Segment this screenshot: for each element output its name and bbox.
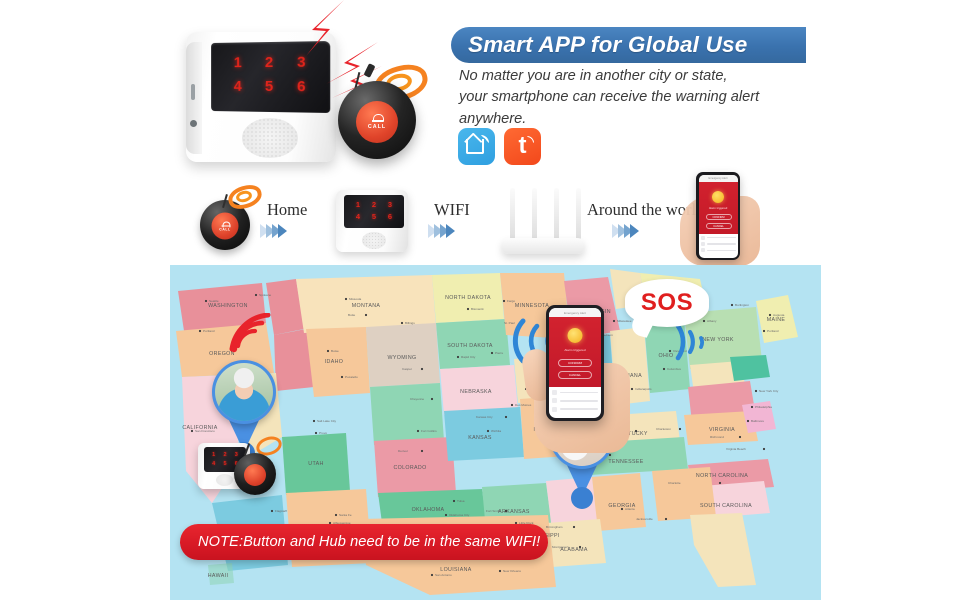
city-label: Billings [405,321,415,325]
app-list [699,234,738,257]
sos-button-face[interactable] [244,464,266,486]
city-label: Birmingham [546,525,563,529]
city-label: Casper [402,367,412,371]
hub-key-1[interactable]: 1 [212,452,215,458]
app-alert-text: Alarm triggered [699,207,738,210]
phone-screen: Emergency Alert Alarm triggered CONFIRM … [699,175,738,258]
state-label: UTAH [308,461,323,467]
app-alert-panel: Alarm triggered CONFIRM CANCEL [699,182,738,234]
app-status-bar: Emergency Alert [699,175,738,182]
state-label: HAWAII [208,573,229,579]
tuya-app-icon[interactable]: t [504,128,541,165]
app-status-title: Emergency Alert [708,177,727,180]
hub-key-6[interactable]: 6 [297,78,306,95]
note-text: NOTE:Button and Hub need to be in the sa… [198,534,540,550]
list-text [560,400,599,402]
list-icon [701,242,705,246]
note-banner: NOTE:Button and Hub need to be in the sa… [180,524,548,560]
avatar [212,360,276,424]
city-label: Richmond [710,435,724,439]
list-item[interactable] [701,236,736,240]
flow-router-device [488,182,598,254]
list-icon [701,248,705,252]
app-alert-panel: Alarm triggered CONFIRM CANCEL [549,317,601,387]
hub-key-4[interactable]: 4 [212,461,215,467]
infographic-canvas: Smart APP for Global Use No matter you a… [0,0,960,600]
city-label: Wichita [491,429,501,433]
city-label: Charlotte [668,481,681,485]
list-item[interactable] [701,242,736,246]
hub-key-1[interactable]: 1 [356,200,360,209]
app-confirm-label: CONFIRM [707,215,731,220]
city-label: Oklahoma City [449,513,470,517]
city-label: Portland [203,329,215,333]
sos-button-face[interactable]: CALL [212,213,239,240]
tuya-letter: t [504,128,541,165]
description-line-2: your smartphone can receive the warning … [459,87,789,108]
app-cancel-button[interactable]: CANCEL [706,223,732,229]
wifi-icon [481,135,489,143]
sos-button-large[interactable]: CALL [338,81,416,159]
smartphone-device: Emergency Alert Alarm triggered CONFIRM … [696,172,740,260]
router-antenna-icon [576,188,581,240]
city-label: Philadelphia [755,405,772,409]
state-label: SOUTH DAKOTA [447,343,493,349]
state-label: IDAHO [325,359,344,365]
state-label: NORTH DAKOTA [445,295,491,301]
flow-hub-device: 1 2 3 4 5 6 [336,190,408,252]
router-antenna-icon [510,188,515,240]
city-label: New Orleans [503,569,521,573]
city-label: Burlington [735,303,749,307]
hub-key-5[interactable]: 5 [265,78,273,95]
app-confirm-label: CONFIRM [559,360,591,367]
city-label: Seattle [209,299,219,303]
list-icon [701,236,705,240]
flow-arrows-wifi [428,224,452,238]
hub-key-2[interactable]: 2 [265,54,273,71]
smartphone-device: Emergency Alert Alarm triggered CONFIRM … [546,305,604,421]
hub-key-4[interactable]: 4 [234,78,242,95]
hub-speaker-grille [242,118,298,158]
city-label: Santa Fe [339,513,352,517]
city-label: New York City [759,389,779,393]
sos-button-label: CALL [368,124,386,130]
list-text [707,250,736,251]
city-label: Bismarck [471,307,484,311]
city-label: Tulsa [457,499,465,503]
hub-key-3[interactable]: 3 [388,200,392,209]
map-phone-in-hand: Emergency Alert Alarm triggered CONFIRM … [522,305,640,445]
city-label: Fort Collins [421,429,437,433]
state-label: ARKANSAS [498,509,530,515]
hub-key-2[interactable]: 2 [372,200,376,209]
page-title: Smart APP for Global Use [468,32,747,58]
city-label: Flagstaff [275,509,287,513]
city-label: Augusta [773,313,785,317]
state-label: NORTH CAROLINA [696,473,748,479]
flow-phone-in-hand: Emergency Alert Alarm triggered CONFIRM … [674,170,774,266]
list-text [560,408,599,410]
hub-key-5[interactable]: 5 [372,212,376,221]
pin-base-dot [571,487,593,509]
hub-speaker-grille [362,232,386,249]
hub-key-3[interactable]: 3 [235,452,238,458]
city-label: Rapid City [461,355,476,359]
state-label: NEBRASKA [460,389,492,395]
app-cancel-label: CANCEL [707,224,731,229]
hub-key-5[interactable]: 5 [223,461,226,467]
bell-icon [221,221,229,228]
app-list [549,387,601,418]
city-label: Missoula [349,297,361,301]
city-label: Montgomery [552,545,570,549]
red-wifi-icon [226,313,272,355]
chevron-right-icon [630,224,639,238]
city-label: Jacksonville [636,517,653,521]
city-label: Spokane [259,293,271,297]
hub-speaker-grille [216,474,233,486]
list-text [707,243,736,244]
state-label: MAINE [767,317,786,323]
list-item[interactable] [552,407,598,412]
hub-key-1[interactable]: 1 [234,55,242,72]
smart-life-app-icon[interactable] [458,128,495,165]
city-label: Kansas City [476,415,493,419]
hub-key-2[interactable]: 2 [223,452,226,458]
description-line-1: No matter you are in another city or sta… [459,66,789,87]
hub-jack-icon [190,120,197,127]
chevron-right-icon [446,224,455,238]
list-text [560,392,599,394]
city-label: San Antonio [435,573,452,577]
state-label: WASHINGTON [208,303,248,309]
city-label: Portland [767,329,779,333]
state-label: COLORADO [393,465,426,471]
state-label: OKLAHOMA [412,507,445,513]
sos-bubble-text: SOS [641,289,693,317]
sos-button-label: CALL [219,228,230,232]
avatar-photo [215,363,273,421]
city-label: Columbus [667,367,681,371]
bell-icon [372,113,383,123]
sos-button-face[interactable]: CALL [356,101,398,143]
header-description: No matter you are in another city or sta… [459,66,789,130]
city-label: Fort Smith [486,509,501,513]
state-label: SOUTH CAROLINA [700,503,752,509]
list-icon [552,407,557,412]
city-label: Cheyenne [410,397,424,401]
list-item[interactable] [552,398,598,403]
city-label: Boise [331,349,339,353]
app-icon-row: t [458,128,541,165]
connection-flow-diagram: CALL Home 1 2 3 4 5 6 [188,176,808,264]
router-antenna-icon [532,188,537,240]
app-status-bar: Emergency Alert [549,308,601,317]
state-label: WYOMING [388,355,417,361]
city-label: Pierre [495,351,504,355]
city-label: Pocatello [345,375,358,379]
city-label: Salt Lake City [317,419,337,423]
hero-devices: 1 2 3 4 5 6 [178,8,438,178]
router-antenna-icon [554,188,559,240]
flow-label-home: Home [267,200,307,220]
app-confirm-button[interactable]: CONFIRM [706,214,732,220]
list-item[interactable] [701,248,736,252]
blue-wifi-icon [670,320,716,364]
map-sos-button[interactable] [234,453,276,495]
siren-icon [712,191,724,203]
list-icon [552,398,557,403]
city-label: Fargo [507,299,515,303]
app-alert-text: Alarm triggered [549,348,601,352]
list-icon [552,390,557,395]
siren-icon [568,328,583,343]
flow-arrows-world [612,224,636,238]
city-label: Baltimore [751,419,764,423]
hub-port-icon [191,84,195,100]
app-cancel-button[interactable]: CANCEL [558,371,592,379]
hub-keypad-panel: 1 2 3 4 5 6 [344,195,404,228]
app-status-title: Emergency Alert [564,311,586,315]
city-label: Provo [319,431,327,435]
state-label: MONTANA [352,303,381,309]
app-confirm-button[interactable]: CONFIRM [558,359,592,367]
hub-key-4[interactable]: 4 [356,212,360,221]
phone-screen: Emergency Alert Alarm triggered CONFIRM … [549,308,601,418]
state-label: VIRGINIA [709,427,735,433]
list-item[interactable] [552,390,598,395]
list-text [707,237,736,238]
app-cancel-label: CANCEL [559,372,591,379]
chevron-right-icon [278,224,287,238]
hub-key-6[interactable]: 6 [388,212,392,221]
flow-arrows-home [260,224,284,238]
city-label: Butte [348,313,356,317]
city-label: Denver [398,449,408,453]
router-body [502,238,584,254]
city-label: Virginia Beach [726,447,746,451]
flow-label-wifi: WIFI [434,200,470,220]
hub-keypad: 1 2 3 4 5 6 [344,195,404,228]
city-label: Atlanta [625,507,635,511]
header-banner: Smart APP for Global Use [451,27,796,63]
state-label: KANSAS [468,435,492,441]
city-label: Charleston [656,427,671,431]
